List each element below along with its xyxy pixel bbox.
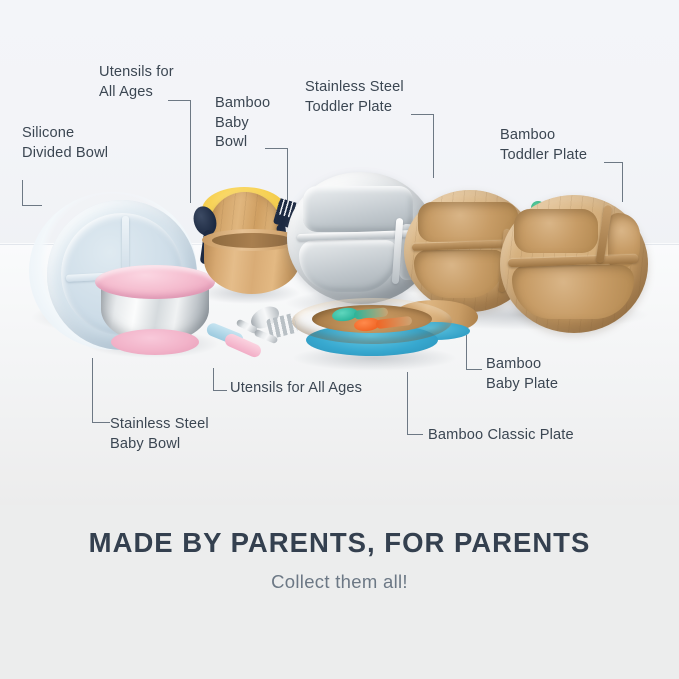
leader-line-bamboo-toddler-plate xyxy=(604,162,630,204)
callout-label-silicone-divided-bowl: Silicone Divided Bowl xyxy=(22,124,182,163)
leader-line-bamboo-baby-plate xyxy=(466,335,490,371)
callout-label-bamboo-toddler-plate: Bamboo Toddler Plate xyxy=(500,126,670,165)
product-infographic: Silicone Divided Bowl Utensils for All A… xyxy=(0,0,679,679)
steel-plate-well-bottom xyxy=(299,240,397,292)
product-bamboo-classic-plate xyxy=(292,298,452,360)
product-utensils-for-all-ages xyxy=(206,306,298,362)
footer-headline: MADE BY PARENTS, FOR PARENTS xyxy=(0,527,679,559)
bamboo-plate-front-well-bottom xyxy=(512,265,634,319)
callout-label-bamboo-classic-plate: Bamboo Classic Plate xyxy=(428,426,658,446)
leader-line-bamboo-classic-plate xyxy=(407,372,431,436)
leader-line-silicone-divided-bowl xyxy=(22,180,48,206)
callout-label-stainless-steel-toddler-plate: Stainless Steel Toddler Plate xyxy=(305,78,480,117)
leader-line-stainless-steel-toddler-plate xyxy=(411,114,439,180)
product-bamboo-toddler-plate-front xyxy=(500,195,648,333)
bamboo-bowl-interior xyxy=(212,233,292,248)
leader-line-utensils-all-ages-bottom xyxy=(213,368,235,392)
footer-subheadline: Collect them all! xyxy=(0,571,679,593)
callout-label-bamboo-baby-plate: Bamboo Baby Plate xyxy=(486,355,636,394)
leader-line-bamboo-baby-bowl xyxy=(265,148,291,203)
callout-label-stainless-steel-baby-bowl: Stainless Steel Baby Bowl xyxy=(110,415,290,454)
product-stainless-steel-baby-bowl xyxy=(95,265,215,360)
steel-bowl-pink-suction-base xyxy=(111,329,199,355)
steel-bowl-pink-lid xyxy=(95,265,215,299)
bamboo-plate-front-well-top-left xyxy=(514,209,598,253)
leader-line-stainless-steel-baby-bowl xyxy=(92,358,116,424)
leader-line-utensils-all-ages-top xyxy=(168,100,194,205)
